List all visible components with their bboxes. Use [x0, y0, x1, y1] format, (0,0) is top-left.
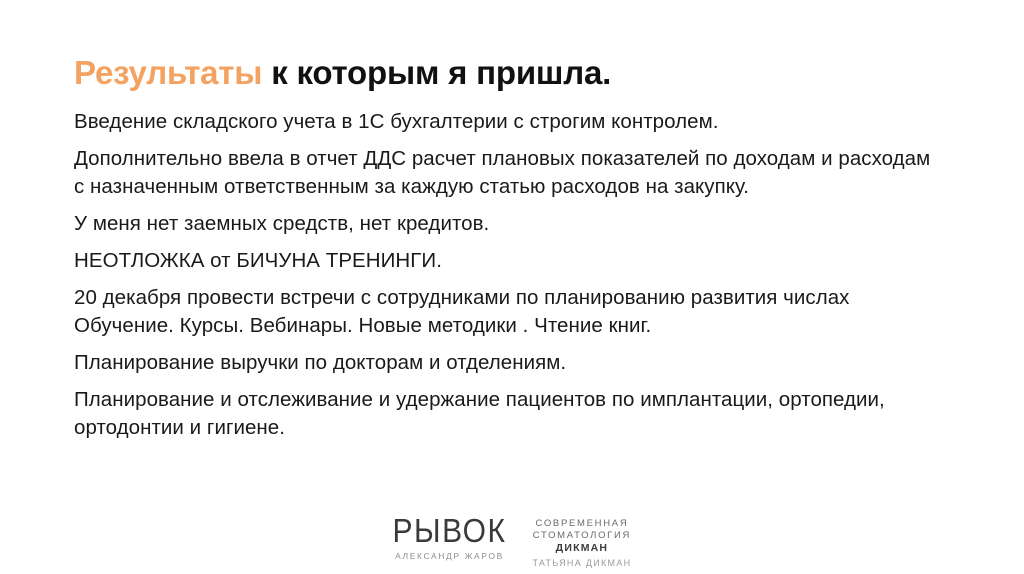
- slide: Результаты к которым я пришла. Введение …: [0, 0, 1024, 574]
- page-title: Результаты к которым я пришла.: [74, 52, 974, 94]
- paragraph: Введение складского учета в 1С бухгалтер…: [74, 108, 946, 136]
- page-title-accent-word: Результаты: [74, 54, 262, 91]
- paragraph: 20 декабря провести встречи с сотрудника…: [74, 284, 946, 340]
- ryvok-logo: РЫВОК АЛЕКСАНДР ЖАРОВ: [393, 512, 507, 561]
- ryvok-logo-subtitle: АЛЕКСАНДР ЖАРОВ: [393, 551, 507, 561]
- paragraph: Планирование выручки по докторам и отдел…: [74, 349, 946, 377]
- paragraph: Дополнительно ввела в отчет ДДС расчет п…: [74, 145, 946, 201]
- dikman-logo-line-2: СТОМАТОЛОГИЯ: [532, 530, 631, 542]
- dikman-logo-line-1: СОВРЕМЕННАЯ: [532, 518, 631, 530]
- paragraph: У меня нет заемных средств, нет кредитов…: [74, 210, 946, 238]
- page-title-rest: к которым я пришла.: [262, 54, 611, 91]
- footer: РЫВОК АЛЕКСАНДР ЖАРОВ СОВРЕМЕННАЯ СТОМАТ…: [0, 512, 1024, 574]
- dikman-logo-brand: ДИКМАН: [532, 542, 631, 555]
- dikman-logo-person: ТАТЬЯНА ДИКМАН: [532, 558, 631, 569]
- paragraph: Планирование и отслеживание и удержание …: [74, 386, 946, 442]
- dikman-logo: СОВРЕМЕННАЯ СТОМАТОЛОГИЯ ДИКМАН ТАТЬЯНА …: [532, 512, 631, 569]
- ryvok-logo-wordmark: РЫВОК: [393, 515, 507, 549]
- paragraph: НЕОТЛОЖКА от БИЧУНА ТРЕНИНГИ.: [74, 247, 946, 275]
- body-content: Введение складского учета в 1С бухгалтер…: [74, 108, 946, 442]
